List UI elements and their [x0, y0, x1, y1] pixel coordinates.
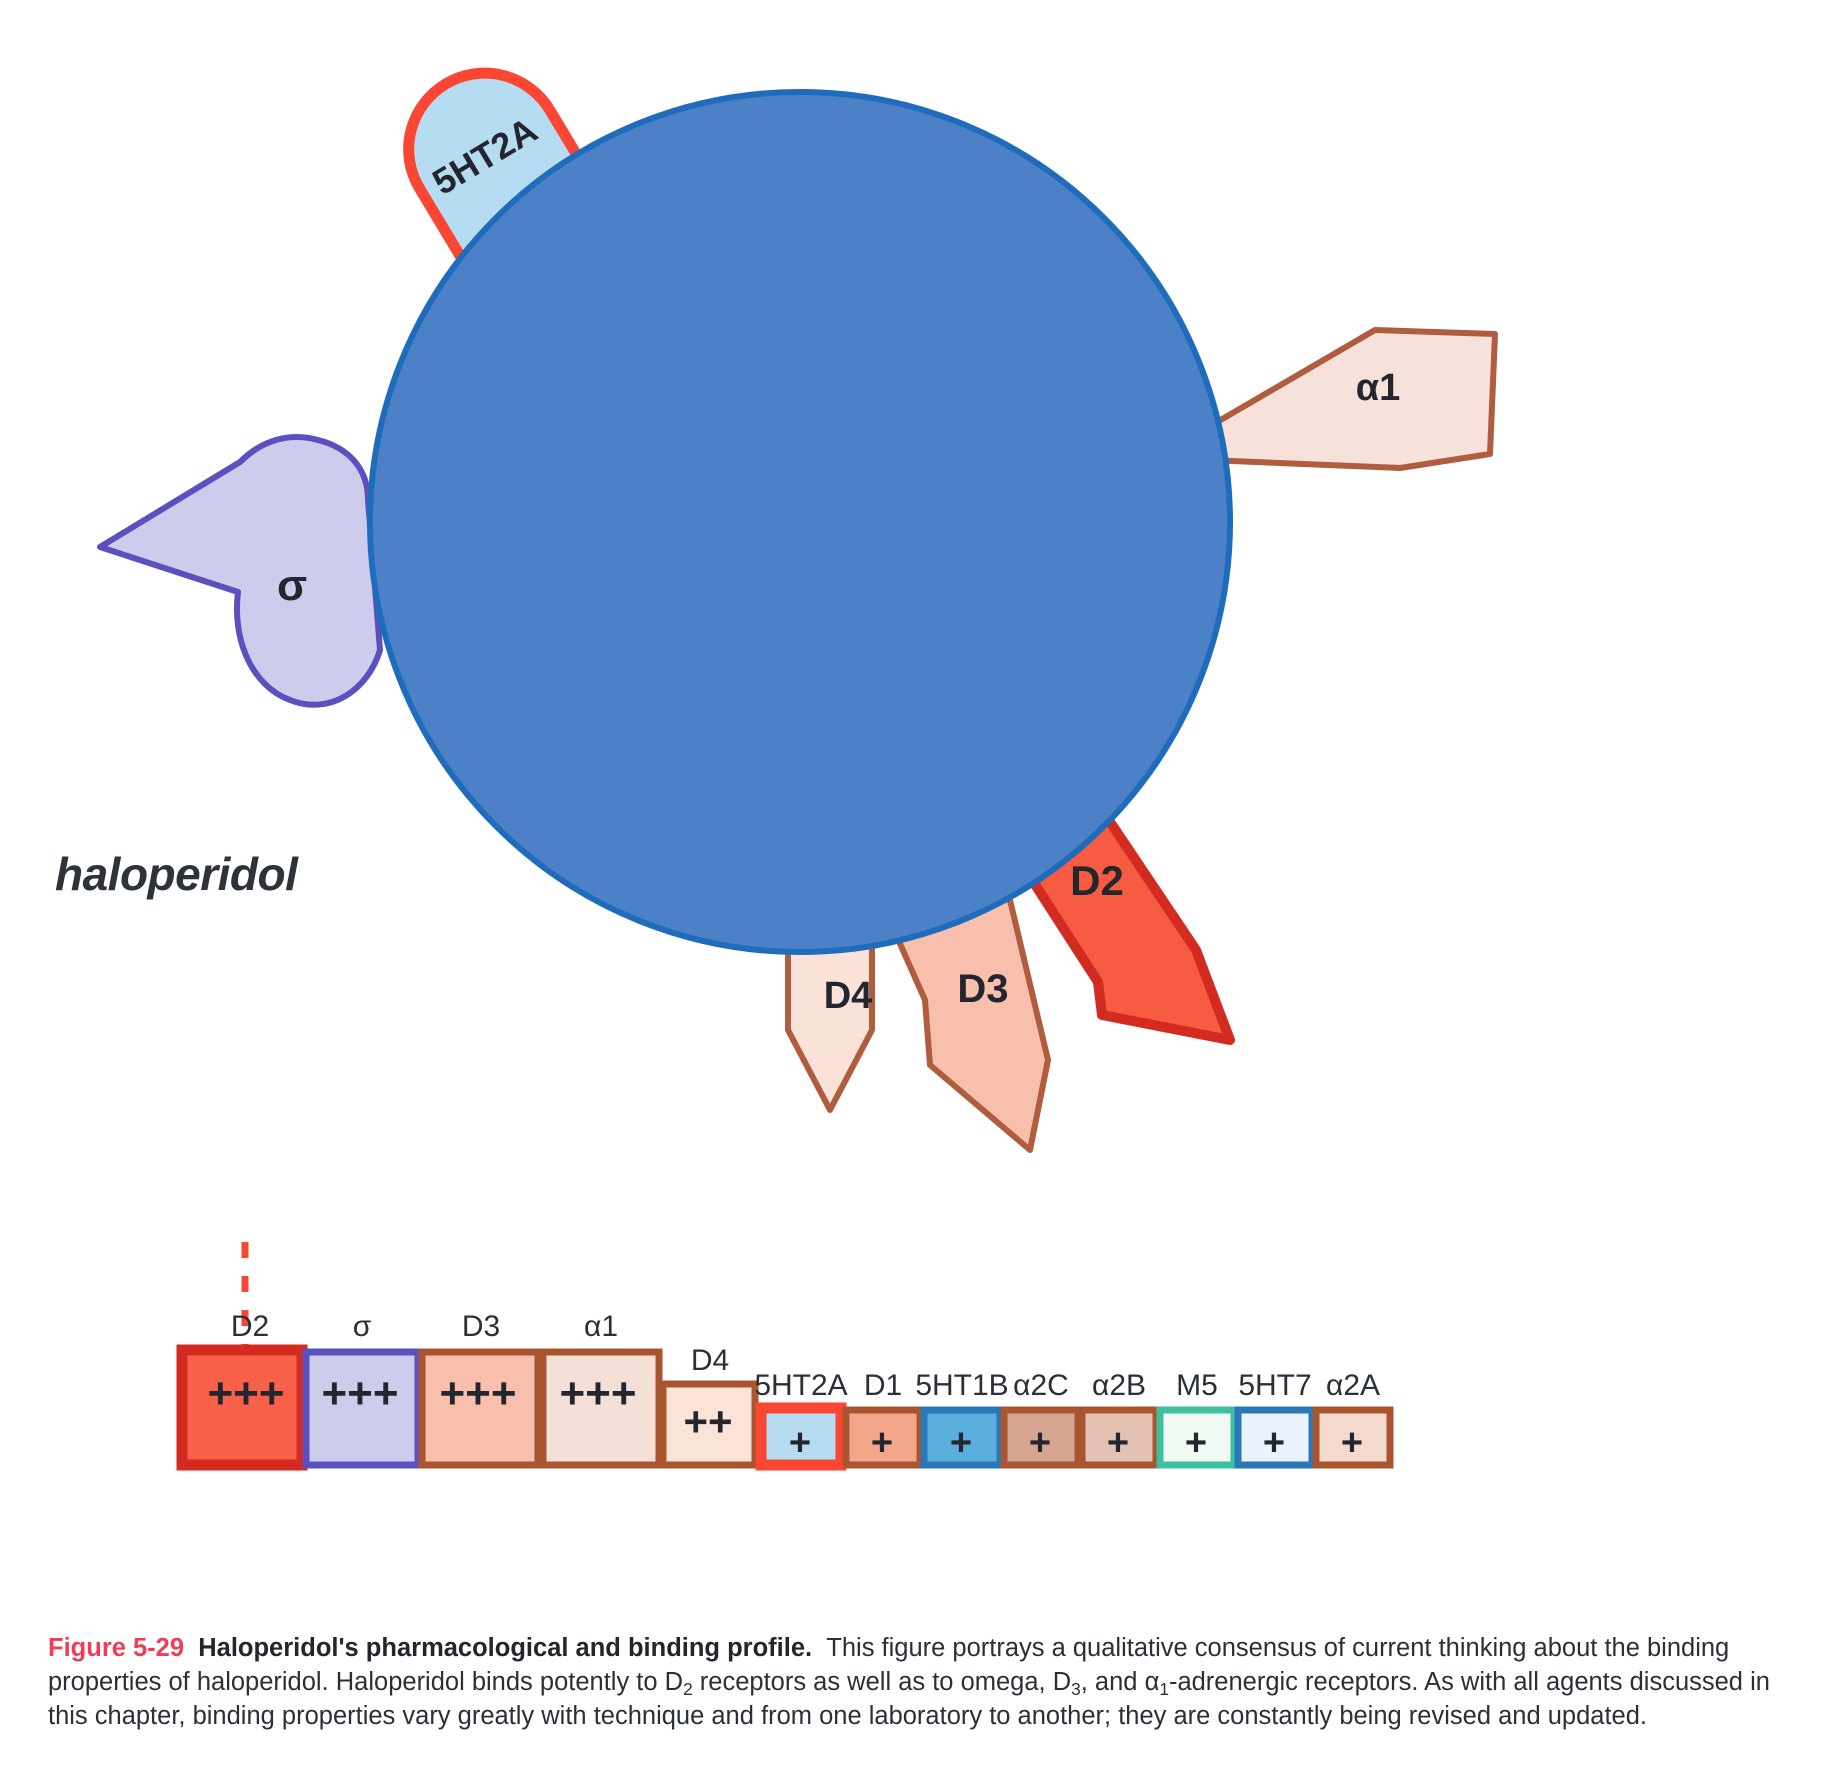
caption-sub-3: 1 [1159, 1679, 1169, 1699]
binding-bar-label-5ht1b: 5HT1B [915, 1369, 1008, 1402]
binding-bar-potency-d2: +++ [207, 1369, 284, 1418]
caption-body-2: receptors as well as to omega, D [693, 1668, 1071, 1696]
binding-bar-potency-m5: + [1185, 1422, 1207, 1464]
binding-bar-d1[interactable]: D1 + [846, 1369, 920, 1465]
caption-sub-2: 3 [1071, 1679, 1081, 1699]
binding-bar-label-m5: M5 [1176, 1369, 1218, 1402]
binding-profile-svg-canvas: D2 +++ σ +++ D3 +++ α1 +++ [0, 1240, 1835, 1640]
binding-bar-potency-sigma: +++ [321, 1369, 398, 1418]
molecule-svg-canvas: σ α1 D4 D3 D2 [0, 0, 1835, 1180]
binding-bar-label-5ht7: 5HT7 [1238, 1369, 1311, 1402]
binding-bar-potency-5ht2a: + [789, 1422, 811, 1464]
figure-number: Figure 5-29 [48, 1634, 184, 1662]
binding-bar-label-alpha1: α1 [584, 1310, 618, 1343]
binding-bar-label-d3: D3 [462, 1310, 500, 1343]
receptor-label-d4: D4 [824, 975, 873, 1017]
figure-5-29: σ α1 D4 D3 D2 [0, 0, 1835, 1789]
binding-bar-label-d1: D1 [864, 1369, 902, 1402]
binding-bar-5ht7[interactable]: 5HT7 + [1238, 1369, 1312, 1465]
binding-bar-alpha1[interactable]: α1 +++ [543, 1310, 659, 1465]
binding-profile-chart: D2 +++ σ +++ D3 +++ α1 +++ [0, 1240, 1835, 1640]
binding-bar-potency-alpha2b: + [1107, 1422, 1129, 1464]
binding-bar-potency-d3: +++ [439, 1369, 516, 1418]
binding-bar-potency-alpha2a: + [1341, 1422, 1363, 1464]
binding-bar-label-alpha2b: α2B [1092, 1369, 1146, 1402]
alpha1-polygon [1200, 330, 1495, 468]
receptor-label-alpha1: α1 [1356, 367, 1401, 409]
caption-body-3: , and α [1081, 1668, 1160, 1696]
binding-bar-potency-d4: ++ [683, 1398, 732, 1445]
binding-bar-potency-5ht7: + [1263, 1422, 1285, 1464]
binding-bar-potency-alpha2c: + [1029, 1422, 1051, 1464]
figure-caption: Figure 5-29 Haloperidol's pharmacologica… [48, 1632, 1796, 1734]
binding-bar-d3[interactable]: D3 +++ [422, 1310, 538, 1465]
binding-bar-5ht2a[interactable]: 5HT2A + [754, 1369, 847, 1465]
binding-bar-label-alpha2c: α2C [1013, 1369, 1069, 1402]
binding-bar-5ht1b[interactable]: 5HT1B + [915, 1369, 1008, 1465]
receptor-label-d3: D3 [957, 967, 1008, 1011]
caption-sub-1: 2 [683, 1679, 693, 1699]
binding-bar-d2[interactable]: D2 +++ [182, 1310, 302, 1465]
binding-bar-m5[interactable]: M5 + [1160, 1369, 1234, 1465]
binding-bar-alpha2a[interactable]: α2A + [1316, 1369, 1390, 1465]
receptor-binding-diagram: σ α1 D4 D3 D2 [0, 0, 1835, 1180]
receptor-shape-alpha1[interactable]: α1 [1200, 330, 1495, 468]
receptor-label-d2: D2 [1070, 857, 1124, 904]
binding-bar-d4[interactable]: D4 ++ [663, 1344, 755, 1465]
binding-bar-label-sigma: σ [353, 1310, 372, 1343]
binding-bar-potency-d1: + [871, 1422, 893, 1464]
binding-bar-label-d2: D2 [231, 1310, 269, 1343]
binding-bar-alpha2c[interactable]: α2C + [1004, 1369, 1078, 1465]
binding-bar-label-5ht2a: 5HT2A [754, 1369, 847, 1402]
binding-bar-label-d4: D4 [691, 1344, 729, 1377]
drug-name-label: haloperidol [55, 848, 299, 900]
binding-bar-potency-alpha1: +++ [559, 1369, 636, 1418]
binding-bar-sigma[interactable]: σ +++ [306, 1310, 418, 1465]
binding-bar-potency-5ht1b: + [950, 1422, 972, 1464]
figure-title: Haloperidol's pharmacological and bindin… [198, 1634, 812, 1662]
sigma-polygon [100, 437, 380, 705]
haloperidol-core-circle[interactable] [370, 92, 1230, 952]
receptor-shape-sigma[interactable]: σ [100, 437, 380, 705]
receptor-label-sigma: σ [277, 561, 307, 610]
binding-bar-alpha2b[interactable]: α2B + [1082, 1369, 1156, 1465]
binding-bar-label-alpha2a: α2A [1326, 1369, 1380, 1402]
